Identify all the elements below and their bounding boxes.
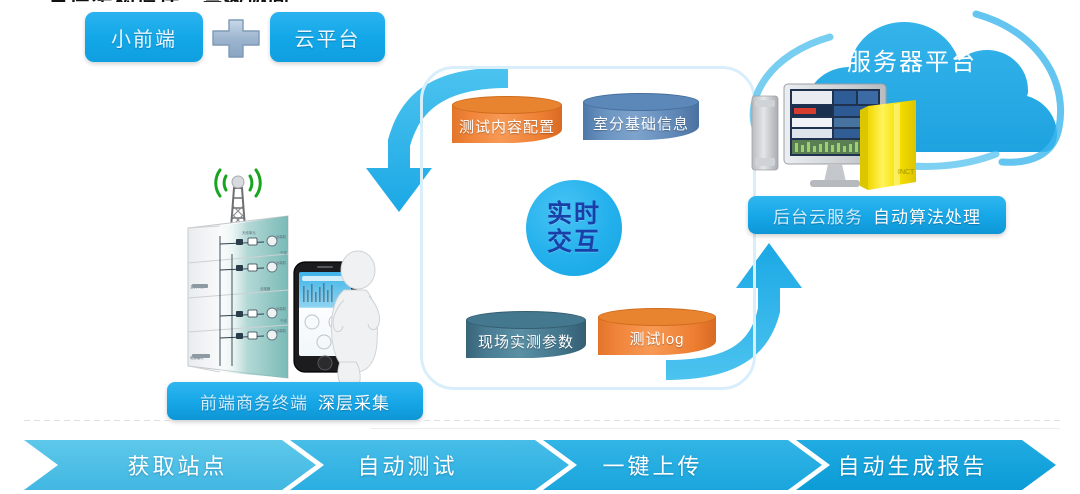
box-cloud-platform[interactable]: 云平台	[270, 12, 385, 62]
realtime-interaction-line2: 交互	[547, 228, 601, 256]
cylinder-room-info[interactable]: 室分基础信息	[583, 93, 699, 140]
label-front-terminal-primary: 前端商务终端	[200, 389, 308, 414]
box-cloud-platform-label: 云平台	[295, 23, 361, 52]
svg-text:INCT: INCT	[898, 169, 915, 176]
label-front-terminal-secondary: 深层采集	[318, 389, 390, 414]
section-divider-secondary	[370, 428, 1060, 429]
equipment-cabinet-icon: 天线单元 远端机 远端机 合路器 远端机 远端机 主机单元 电源模块 干线 干线	[176, 166, 411, 388]
plus-icon	[207, 16, 265, 60]
flow-step-1[interactable]: 自动测试	[300, 436, 515, 494]
svg-text:干线: 干线	[280, 318, 287, 323]
server-monitor-icon: INCT	[748, 82, 948, 194]
flow-step-2[interactable]: 一键上传	[545, 436, 760, 494]
cylinder-room-info-label: 室分基础信息	[583, 106, 699, 140]
server-tower-icon: INCT	[860, 100, 916, 190]
label-cloud-service-secondary: 自动算法处理	[873, 203, 981, 228]
svg-text:远端机: 远端机	[276, 328, 287, 333]
cloud-label: 服务器平台	[847, 49, 977, 76]
svg-text:远端机: 远端机	[276, 234, 287, 239]
antenna-tower-icon	[216, 170, 261, 228]
svg-text:天线单元: 天线单元	[242, 230, 256, 235]
cylinder-field-param-label: 现场实测参数	[466, 324, 586, 358]
cylinder-field-param[interactable]: 现场实测参数	[466, 311, 586, 358]
flow-step-0[interactable]: 获取站点	[70, 436, 285, 494]
section-divider	[24, 420, 1060, 421]
process-flow: 获取站点 自动测试 一键上传 自动生成报告	[0, 436, 1080, 494]
cylinder-test-config-label: 测试内容配置	[452, 109, 562, 143]
svg-text:远端机: 远端机	[276, 306, 287, 311]
cylinder-test-config[interactable]: 测试内容配置	[452, 96, 562, 143]
label-cloud-service-primary: 后台云服务	[773, 203, 863, 228]
label-cloud-service[interactable]: 后台云服务 自动算法处理	[748, 196, 1006, 234]
realtime-interaction-badge: 实时 交互	[526, 180, 622, 276]
box-front-end[interactable]: 小前端	[85, 12, 203, 62]
cylinder-test-log-label: 测试log	[598, 321, 716, 355]
diagram-canvas: 三层架构设计，高效协同	[0, 0, 1080, 494]
cylinder-test-log[interactable]: 测试log	[598, 308, 716, 355]
label-front-terminal[interactable]: 前端商务终端 深层采集	[167, 382, 423, 420]
box-front-end-label: 小前端	[111, 23, 177, 52]
svg-text:合路器: 合路器	[260, 286, 271, 291]
svg-text:远端机: 远端机	[276, 260, 287, 265]
realtime-interaction-line1: 实时	[547, 200, 601, 228]
svg-text:干线: 干线	[280, 250, 287, 255]
page-title: 三层架构设计，高效协同	[48, 0, 290, 2]
flow-step-3[interactable]: 自动生成报告	[790, 436, 1035, 494]
